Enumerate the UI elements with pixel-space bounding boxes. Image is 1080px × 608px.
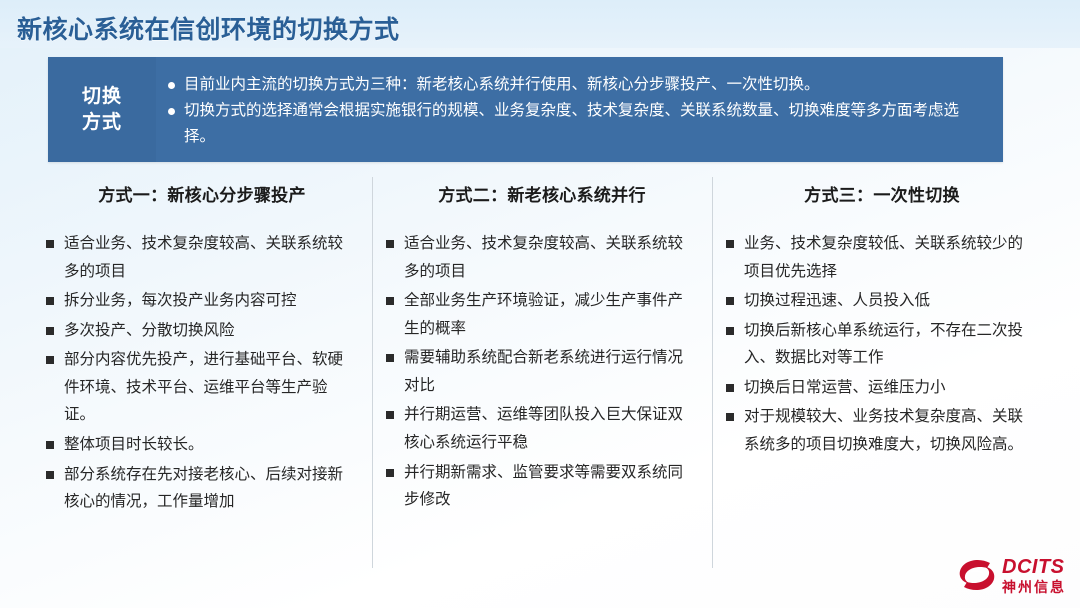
- list-item: 多次投产、分散切换风险: [46, 317, 358, 345]
- bullet-list: 业务、技术复杂度较低、关联系统较少的项目优先选择 切换过程迅速、人员投入低 切换…: [726, 230, 1038, 459]
- column-method-one: 方式一：新核心分步骤投产 适合业务、技术复杂度较高、关联系统较多的项目 拆分业务…: [32, 175, 372, 570]
- page-title: 新核心系统在信创环境的切换方式: [17, 10, 400, 46]
- square-bullet-icon: [46, 441, 54, 449]
- list-item: 部分内容优先投产，进行基础平台、软硬件环境、技术平台、运维平台等生产验证。: [46, 346, 358, 429]
- column-method-two: 方式二：新老核心系统并行 适合业务、技术复杂度较高、关联系统较多的项目 全部业务…: [372, 175, 712, 570]
- list-item: 切换后新核心单系统运行，不存在二次投入、数据比对等工作: [726, 317, 1038, 372]
- list-item-text: 部分内容优先投产，进行基础平台、软硬件环境、技术平台、运维平台等生产验证。: [64, 346, 358, 429]
- square-bullet-icon: [46, 471, 54, 479]
- list-item-text: 全部业务生产环境验证，减少生产事件产生的概率: [404, 287, 698, 342]
- square-bullet-icon: [46, 327, 54, 335]
- bullet-dot-icon: [168, 82, 175, 89]
- summary-banner: 切换 方式 目前业内主流的切换方式为三种：新老核心系统并行使用、新核心分步骤投产…: [48, 57, 1003, 162]
- banner-bullet-text: 目前业内主流的切换方式为三种：新老核心系统并行使用、新核心分步骤投产、一次性切换…: [184, 72, 985, 97]
- list-item-text: 切换后新核心单系统运行，不存在二次投入、数据比对等工作: [744, 317, 1038, 372]
- square-bullet-icon: [386, 411, 394, 419]
- logo-chinese: 神州信息: [1002, 580, 1066, 594]
- square-bullet-icon: [46, 297, 54, 305]
- list-item: 全部业务生产环境验证，减少生产事件产生的概率: [386, 287, 698, 342]
- list-item-text: 部分系统存在先对接老核心、后续对接新核心的情况，工作量增加: [64, 461, 358, 516]
- column-title: 方式二：新老核心系统并行: [386, 181, 698, 206]
- square-bullet-icon: [726, 384, 734, 392]
- column-title: 方式三：一次性切换: [726, 181, 1038, 206]
- list-item: 切换后日常运营、运维压力小: [726, 374, 1038, 402]
- comparison-columns: 方式一：新核心分步骤投产 适合业务、技术复杂度较高、关联系统较多的项目 拆分业务…: [32, 175, 1052, 570]
- list-item: 切换过程迅速、人员投入低: [726, 287, 1038, 315]
- bullet-dot-icon: [168, 108, 175, 115]
- list-item-text: 切换后日常运营、运维压力小: [744, 374, 1038, 402]
- company-logo: DCITS 神州信息: [957, 554, 1066, 596]
- banner-bullet: 切换方式的选择通常会根据实施银行的规模、业务复杂度、技术复杂度、关联系统数量、切…: [168, 98, 985, 148]
- logo-english: DCITS: [1002, 557, 1066, 577]
- square-bullet-icon: [46, 240, 54, 248]
- banner-label-line1: 切换: [82, 84, 122, 110]
- list-item-text: 适合业务、技术复杂度较高、关联系统较多的项目: [404, 230, 698, 285]
- square-bullet-icon: [386, 469, 394, 477]
- square-bullet-icon: [386, 297, 394, 305]
- banner-bullet: 目前业内主流的切换方式为三种：新老核心系统并行使用、新核心分步骤投产、一次性切换…: [168, 72, 985, 97]
- banner-label: 切换 方式: [48, 57, 156, 162]
- list-item: 部分系统存在先对接老核心、后续对接新核心的情况，工作量增加: [46, 461, 358, 516]
- square-bullet-icon: [46, 356, 54, 364]
- list-item-text: 并行期运营、运维等团队投入巨大保证双核心系统运行平稳: [404, 401, 698, 456]
- banner-bullet-text: 切换方式的选择通常会根据实施银行的规模、业务复杂度、技术复杂度、关联系统数量、切…: [184, 98, 985, 148]
- bullet-list: 适合业务、技术复杂度较高、关联系统较多的项目 全部业务生产环境验证，减少生产事件…: [386, 230, 698, 514]
- list-item-text: 多次投产、分散切换风险: [64, 317, 358, 345]
- banner-body: 目前业内主流的切换方式为三种：新老核心系统并行使用、新核心分步骤投产、一次性切换…: [156, 57, 1003, 162]
- list-item-text: 切换过程迅速、人员投入低: [744, 287, 1038, 315]
- square-bullet-icon: [726, 297, 734, 305]
- list-item: 并行期运营、运维等团队投入巨大保证双核心系统运行平稳: [386, 401, 698, 456]
- list-item-text: 对于规模较大、业务技术复杂度高、关联系统多的项目切换难度大，切换风险高。: [744, 403, 1038, 458]
- square-bullet-icon: [386, 354, 394, 362]
- list-item-text: 业务、技术复杂度较低、关联系统较少的项目优先选择: [744, 230, 1038, 285]
- bullet-list: 适合业务、技术复杂度较高、关联系统较多的项目 拆分业务，每次投产业务内容可控 多…: [46, 230, 358, 516]
- list-item: 需要辅助系统配合新老系统进行运行情况对比: [386, 344, 698, 399]
- list-item: 对于规模较大、业务技术复杂度高、关联系统多的项目切换难度大，切换风险高。: [726, 403, 1038, 458]
- list-item-text: 适合业务、技术复杂度较高、关联系统较多的项目: [64, 230, 358, 285]
- list-item: 整体项目时长较长。: [46, 431, 358, 459]
- square-bullet-icon: [726, 413, 734, 421]
- list-item-text: 拆分业务，每次投产业务内容可控: [64, 287, 358, 315]
- square-bullet-icon: [726, 327, 734, 335]
- list-item: 并行期新需求、监管要求等需要双系统同步修改: [386, 459, 698, 514]
- list-item: 拆分业务，每次投产业务内容可控: [46, 287, 358, 315]
- list-item: 业务、技术复杂度较低、关联系统较少的项目优先选择: [726, 230, 1038, 285]
- dcits-swirl-icon: [957, 557, 997, 593]
- list-item: 适合业务、技术复杂度较高、关联系统较多的项目: [46, 230, 358, 285]
- logo-text: DCITS 神州信息: [1002, 557, 1066, 594]
- list-item: 适合业务、技术复杂度较高、关联系统较多的项目: [386, 230, 698, 285]
- list-item-text: 并行期新需求、监管要求等需要双系统同步修改: [404, 459, 698, 514]
- column-title: 方式一：新核心分步骤投产: [46, 181, 358, 206]
- slide: 新核心系统在信创环境的切换方式 切换 方式 目前业内主流的切换方式为三种：新老核…: [0, 0, 1080, 608]
- banner-label-line2: 方式: [82, 110, 122, 136]
- list-item-text: 需要辅助系统配合新老系统进行运行情况对比: [404, 344, 698, 399]
- column-method-three: 方式三：一次性切换 业务、技术复杂度较低、关联系统较少的项目优先选择 切换过程迅…: [712, 175, 1052, 570]
- square-bullet-icon: [726, 240, 734, 248]
- list-item-text: 整体项目时长较长。: [64, 431, 358, 459]
- square-bullet-icon: [386, 240, 394, 248]
